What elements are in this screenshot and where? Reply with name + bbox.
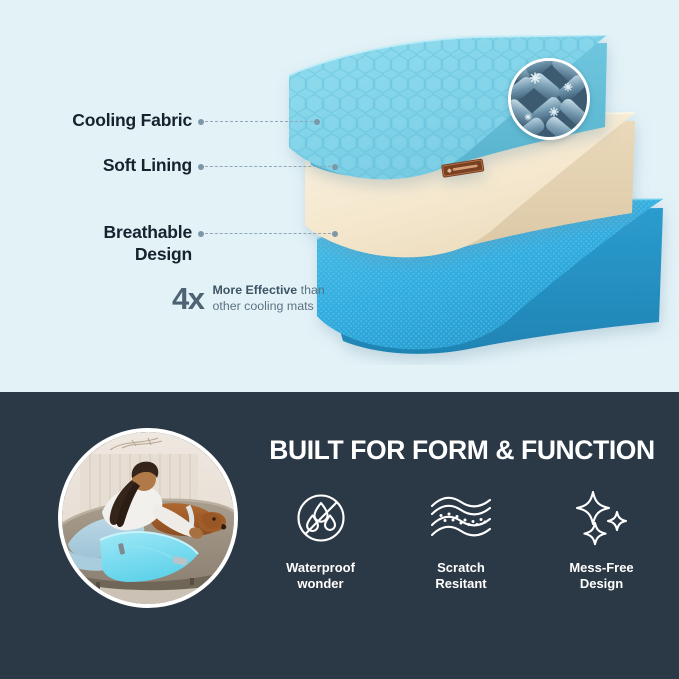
cooling-mat-features-panel: Cooling Fabric Soft Lining Breathable De… <box>0 0 679 392</box>
leader-dot-start <box>198 164 204 170</box>
feature-waterproof: Waterproof wonder <box>258 485 383 593</box>
mess-free-sparkles-icon <box>573 485 631 551</box>
effectiveness-copy: More Effective than other cooling mats <box>212 282 324 314</box>
effectiveness-strong: More Effective <box>212 283 297 297</box>
leader-line-soft-lining <box>198 162 338 171</box>
feature-list: Waterproof wonder <box>258 485 664 593</box>
leader-dot-end <box>332 164 338 170</box>
effectiveness-multiplier: 4x <box>172 283 203 314</box>
feature-label-scratch-resistant: Scratch Resitant <box>435 560 486 593</box>
callout-label-cooling-fabric: Cooling Fabric <box>72 109 192 131</box>
feature-label-mess-free: Mess-Free Design <box>569 560 633 593</box>
feature-scratch-resistant: Scratch Resitant <box>399 485 524 593</box>
leader-dot-end <box>314 119 320 125</box>
callout-label-breathable-design: Breathable Design <box>104 221 192 266</box>
leader-dot-start <box>198 231 204 237</box>
page-title: BUILT FOR FORM & FUNCTION <box>262 435 662 466</box>
waterproof-droplet-slash-icon <box>292 485 350 551</box>
effectiveness-claim: 4x More Effective than other cooling mat… <box>172 282 325 314</box>
effectiveness-line-2: other cooling mats <box>212 298 324 314</box>
leader-dash <box>205 233 331 234</box>
leader-dash <box>205 166 331 167</box>
layered-cooling-mat-exploded-view <box>255 35 679 365</box>
callout-soft-lining: Soft Lining <box>42 154 192 176</box>
leader-dot-end <box>332 231 338 237</box>
leader-dash <box>205 121 313 122</box>
feature-label-waterproof: Waterproof wonder <box>286 560 355 593</box>
leader-line-cooling-fabric <box>198 117 320 126</box>
feature-mess-free: Mess-Free Design <box>539 485 664 593</box>
leader-dot-start <box>198 119 204 125</box>
woman-petting-dog-on-couch-with-cooling-mat <box>58 428 238 608</box>
scratch-resistant-wavy-fabric-icon <box>428 485 494 551</box>
callout-label-soft-lining: Soft Lining <box>103 154 192 176</box>
callout-cooling-fabric: Cooling Fabric <box>42 109 192 131</box>
leader-line-breathable-design <box>198 229 338 238</box>
callout-breathable-design: Breathable Design <box>42 221 192 266</box>
effectiveness-line-1-rest: than <box>297 283 325 297</box>
cooling-fabric-magnified-weave <box>508 58 590 140</box>
form-and-function-panel: BUILT FOR FORM & FUNCTION Waterproof won… <box>0 392 679 679</box>
effectiveness-line-1: More Effective than <box>212 282 324 298</box>
